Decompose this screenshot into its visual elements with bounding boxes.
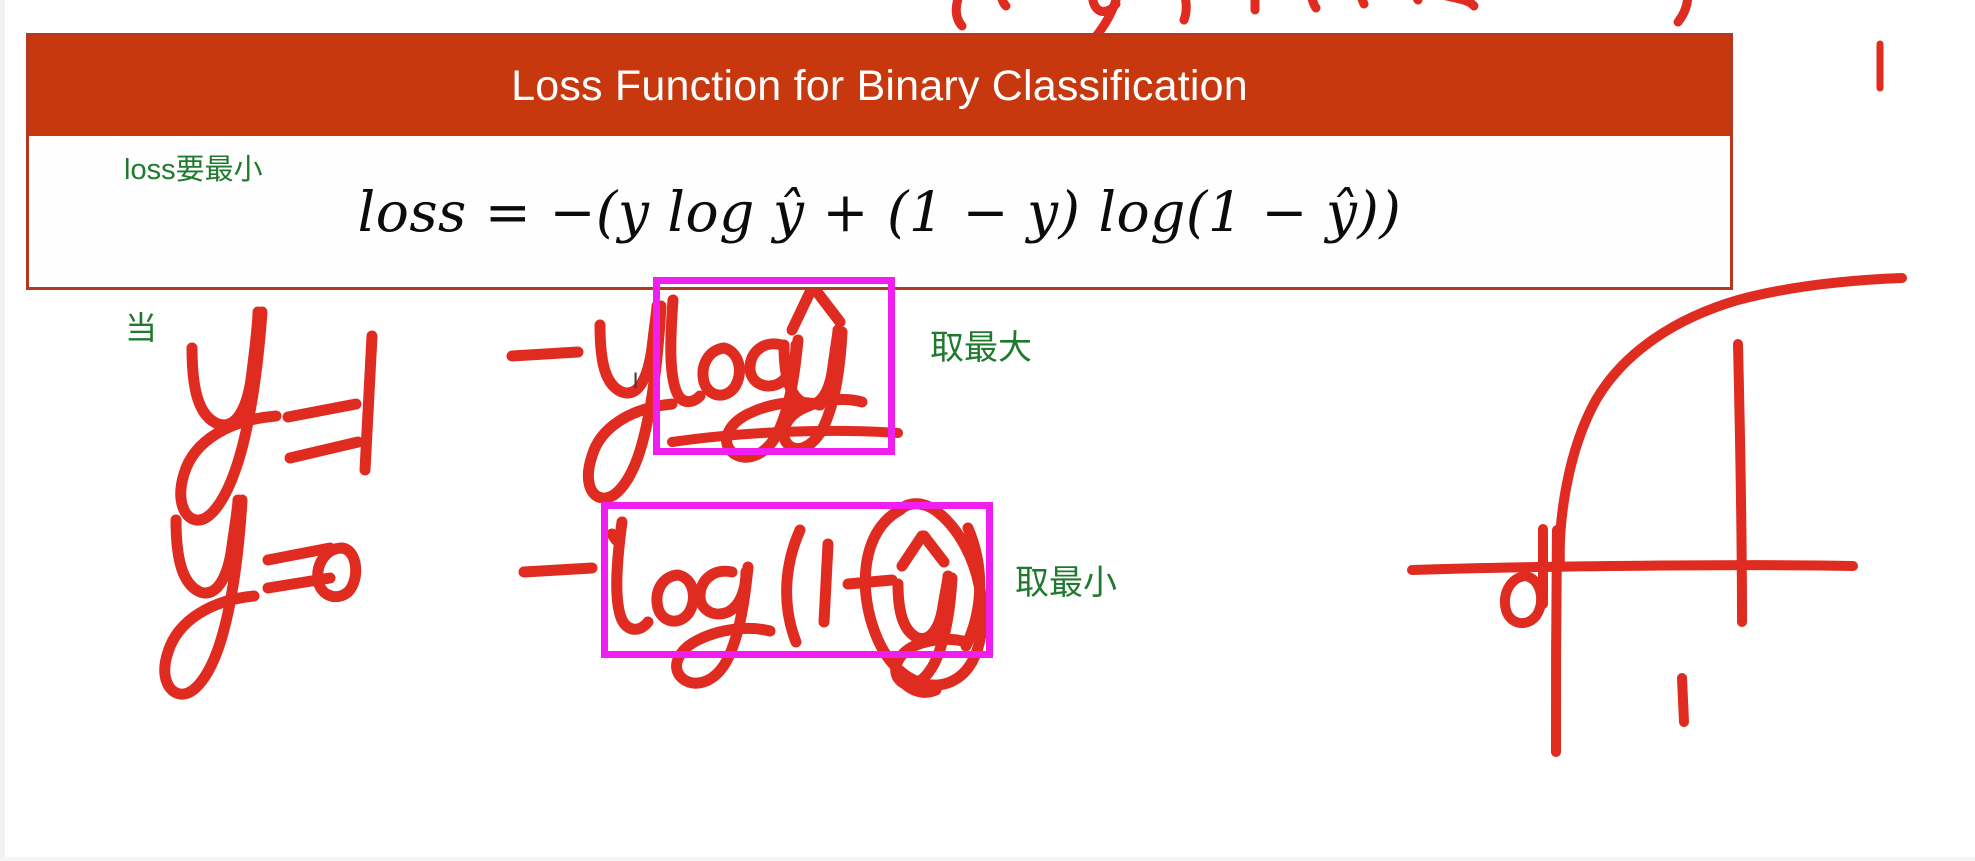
slide-title-bar: Loss Function for Binary Classification (29, 36, 1730, 136)
highlight-box-log-1-minus-yhat[interactable] (601, 502, 993, 658)
screenshot-canvas: Loss Function for Binary Classification … (0, 0, 1975, 861)
annotation-when: 当 (125, 303, 157, 349)
text-cursor-icon: I (630, 368, 641, 394)
ink-row1-expression (512, 306, 672, 498)
annotation-take-minimum: 取最小 (1015, 555, 1117, 604)
highlight-box-log-yhat[interactable] (653, 277, 895, 455)
ink-row1-condition (181, 312, 372, 520)
page-left-edge (0, 0, 5, 861)
slide-card: Loss Function for Binary Classification … (26, 33, 1733, 290)
slide-body: loss = −(y log ŷ + (1 − y) log(1 − ŷ)) (29, 136, 1730, 287)
ink-log-curve-sketch (1412, 278, 1902, 752)
page-title: Loss Function for Binary Classification (511, 62, 1248, 111)
loss-formula: loss = −(y log ŷ + (1 − y) log(1 − ŷ)) (29, 136, 1730, 287)
annotation-take-maximum: 取最大 (930, 320, 1032, 369)
ink-row2-condition (165, 500, 356, 694)
annotation-loss-minimum: loss要最小 (124, 146, 263, 188)
page-bottom-edge (0, 857, 1975, 861)
